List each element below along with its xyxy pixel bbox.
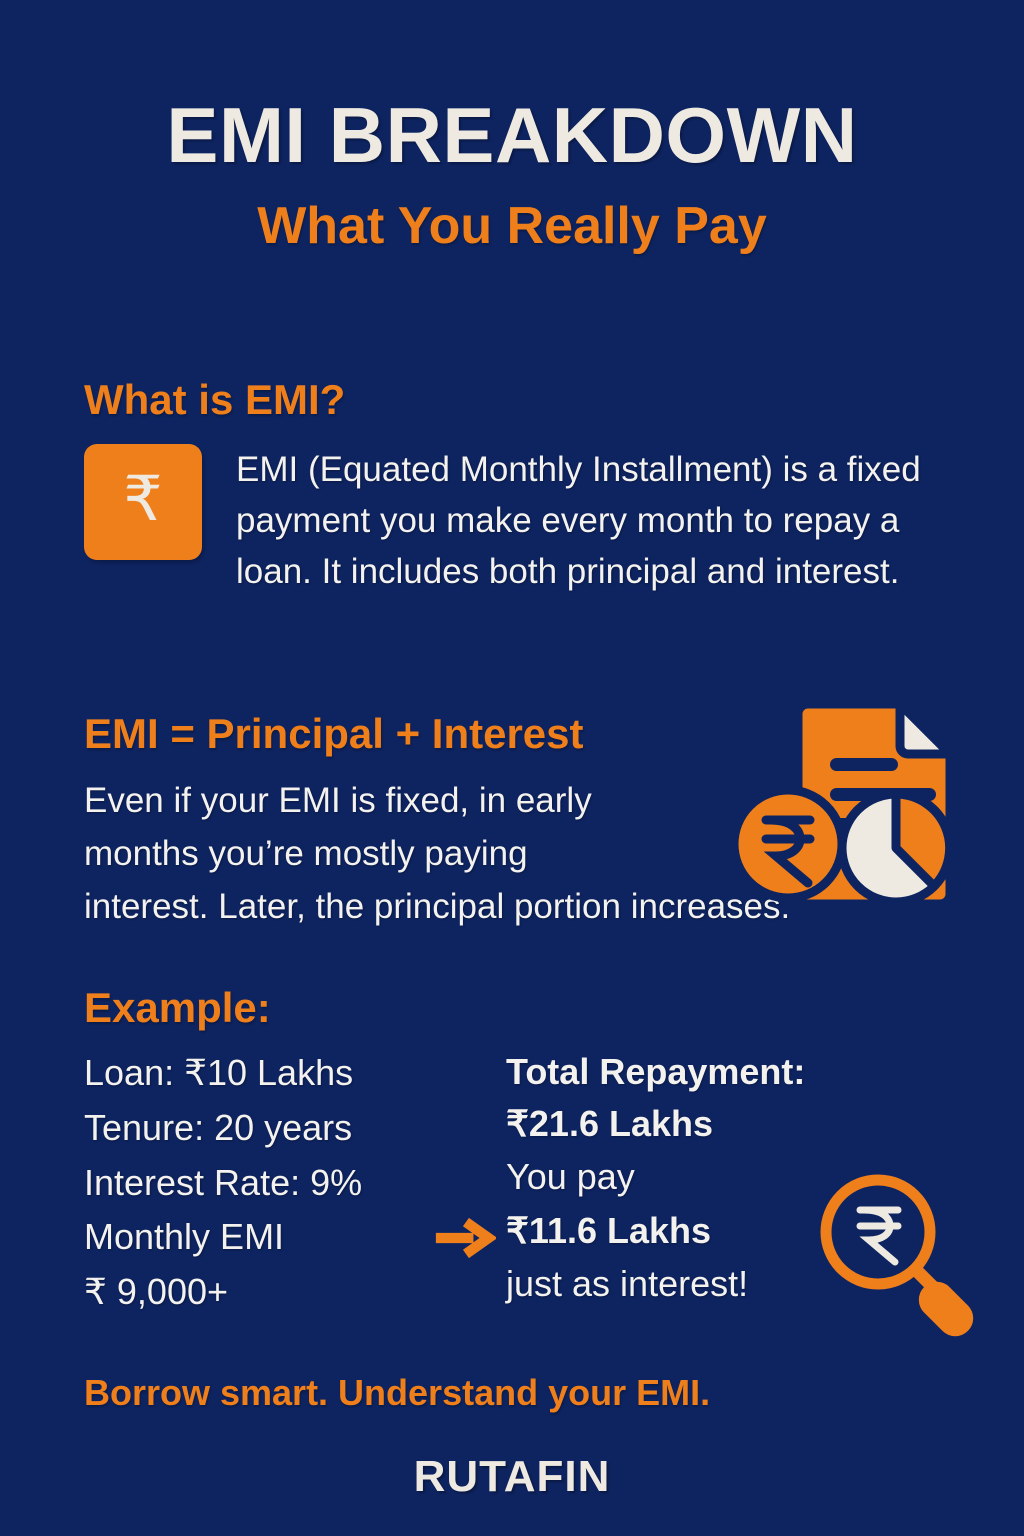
document-line-1 (830, 758, 898, 771)
brand-logo-text: RUTAFIN (0, 1452, 1024, 1502)
section-what-is-emi: What is EMI? ₹ EMI (Equated Monthly Inst… (84, 378, 964, 597)
section-heading-what-is-emi: What is EMI? (84, 378, 964, 422)
total-repayment-label: Total Repayment: (506, 1046, 974, 1098)
section-heading-example: Example: (84, 986, 974, 1030)
formula-line-2: months you’re mostly paying (84, 834, 528, 873)
page-subtitle: What You Really Pay (0, 200, 1024, 252)
what-is-emi-paragraph: EMI (Equated Monthly Installment) is a f… (236, 444, 964, 597)
footer-tagline: Borrow smart. Understand your EMI. (84, 1372, 710, 1414)
arrow-right-icon (424, 1046, 506, 1320)
example-right-column: Total Repayment: ₹21.6 Lakhs You pay ₹11… (506, 1046, 974, 1320)
section-example: Example: Loan: ₹10 Lakhs Tenure: 20 year… (84, 986, 974, 1320)
magnifier-rupee-glyph (860, 1210, 898, 1262)
example-monthly-emi-value: ₹ 9,000+ (84, 1265, 424, 1320)
example-tenure-line: Tenure: 20 years (84, 1101, 424, 1156)
example-rate-line: Interest Rate: 9% (84, 1156, 424, 1211)
magnifier-rupee-icon (806, 1164, 982, 1340)
example-columns: Loan: ₹10 Lakhs Tenure: 20 years Interes… (84, 1046, 974, 1320)
page-title: EMI BREAKDOWN (0, 96, 1024, 174)
document-folded-corner (900, 704, 950, 754)
poster-header: EMI BREAKDOWN What You Really Pay (0, 0, 1024, 252)
formula-line-1: Even if your EMI is fixed, in early (84, 781, 592, 820)
rupee-badge-icon: ₹ (84, 444, 202, 560)
example-monthly-emi-label: Monthly EMI (84, 1210, 424, 1265)
example-left-column: Loan: ₹10 Lakhs Tenure: 20 years Interes… (84, 1046, 424, 1320)
document-coin-piechart-icon (726, 696, 976, 911)
coin-shape (734, 790, 842, 898)
infographic-poster: EMI BREAKDOWN What You Really Pay What i… (0, 0, 1024, 1536)
example-loan-line: Loan: ₹10 Lakhs (84, 1046, 424, 1101)
what-is-emi-body: ₹ EMI (Equated Monthly Installment) is a… (84, 444, 964, 597)
formula-paragraph: Even if your EMI is fixed, in early mont… (84, 774, 724, 934)
total-repayment-value: ₹21.6 Lakhs (506, 1098, 974, 1150)
rupee-symbol-glyph: ₹ (123, 469, 162, 531)
